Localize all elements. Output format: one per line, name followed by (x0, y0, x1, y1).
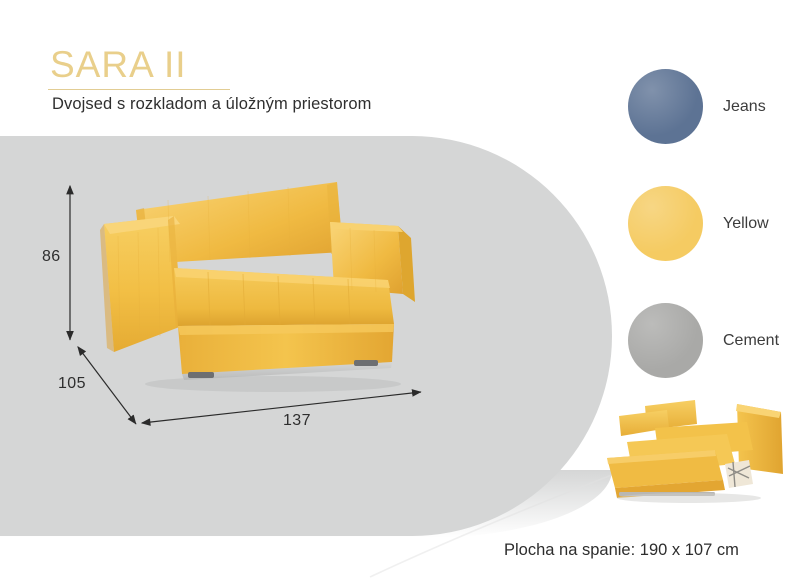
swatch-row-yellow[interactable]: Yellow (628, 165, 800, 282)
title-block: SARA II Dvojsed s rozkladom a úložným pr… (48, 44, 468, 114)
sleeping-area-note: Plocha na spanie: 190 x 107 cm (504, 541, 739, 560)
fabric-swatch-icon-jeans[interactable] (628, 69, 703, 144)
dimension-depth-label: 105 (58, 375, 86, 393)
sofa-unfolded-bed-illustration (597, 388, 797, 508)
swatch-label-cement: Cement (723, 332, 779, 350)
swatch-label-yellow: Yellow (723, 215, 769, 233)
swatch-row-jeans[interactable]: Jeans (628, 48, 800, 165)
page-title: SARA II (48, 44, 468, 89)
title-underline (48, 89, 230, 90)
product-datasheet: SARA II Dvojsed s rozkladom a úložným pr… (0, 0, 800, 583)
sofa-closed-illustration (98, 176, 428, 398)
fabric-swatch-icon-yellow[interactable] (628, 186, 703, 261)
swatch-row-cement[interactable]: Cement (628, 282, 800, 399)
dimension-width-label: 137 (283, 412, 311, 430)
swatch-label-jeans: Jeans (723, 98, 766, 116)
color-swatch-legend: Jeans Yellow Cement (628, 48, 800, 399)
dimension-height-label: 86 (42, 248, 61, 266)
page-subtitle: Dvojsed s rozkladom a úložným priestorom (48, 95, 468, 114)
fabric-swatch-icon-cement[interactable] (628, 303, 703, 378)
